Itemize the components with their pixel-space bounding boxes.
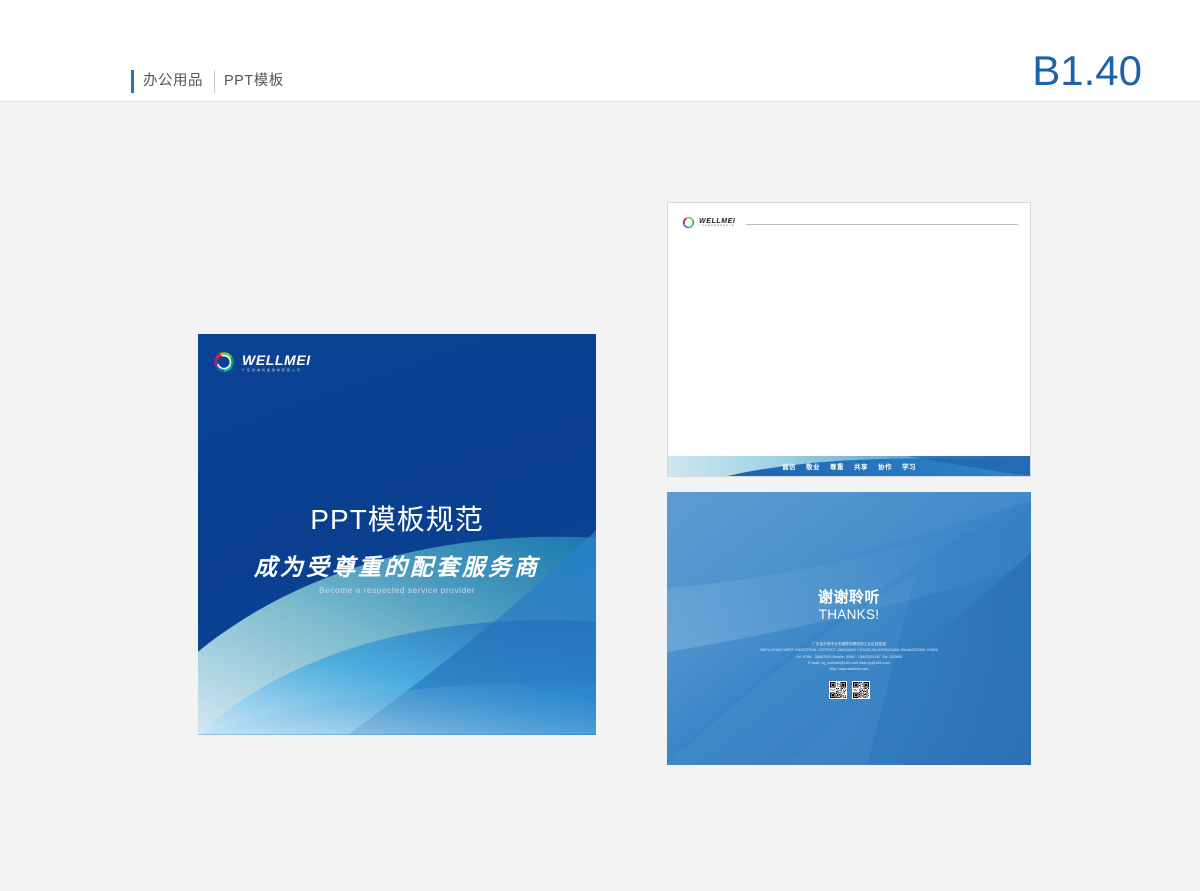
wellmei-swirl-icon	[681, 215, 696, 230]
cover-tagline-cn: 成为受尊重的配套服务商	[198, 556, 596, 579]
logo-wordmark: WELLMEI	[242, 353, 311, 367]
thanks-content: 谢谢聆听 THANKS! 广东省东莞市长安镇厦岗厦岗西工业区锦富路 JINFU …	[667, 590, 1031, 699]
qr-code-row	[667, 681, 1031, 699]
artboard-canvas: WELLMEI 广东省威利美建材有限公司 PPT模板规范 成为受尊重的配套服务商…	[0, 102, 1200, 891]
logo-subtext: 广东省威利美建材有限公司	[242, 369, 311, 372]
content-header-rule	[746, 224, 1018, 225]
logo-subtext: 广东省威利美建材有限公司	[699, 226, 735, 228]
company-address-block: 广东省东莞市长安镇厦岗厦岗西工业区锦富路 JINFU ROAD WEST IND…	[667, 641, 1031, 672]
qr-code-website[interactable]	[852, 681, 870, 699]
cover-wave-graphic	[198, 502, 596, 735]
page-number: B1.40	[1032, 50, 1142, 92]
slide-content-template[interactable]: WELLMEI 广东省威利美建材有限公司	[667, 202, 1031, 477]
breadcrumb-item[interactable]: PPT模板	[224, 74, 284, 89]
thanks-title-cn: 谢谢聆听	[667, 590, 1031, 606]
cover-title: PPT模板规范	[198, 506, 596, 534]
breadcrumb-divider	[214, 70, 215, 93]
content-logo-type: WELLMEI 广东省威利美建材有限公司	[699, 218, 735, 228]
qr-code-wechat[interactable]	[829, 681, 847, 699]
breadcrumb: 办公用品 PPT模板	[131, 68, 284, 94]
address-line: Http: www.wellmei.com	[667, 666, 1031, 672]
cover-logo: WELLMEI 广东省威利美建材有限公司	[211, 349, 311, 375]
core-value: 敬业	[806, 461, 820, 471]
slide-cover[interactable]: WELLMEI 广东省威利美建材有限公司 PPT模板规范 成为受尊重的配套服务商…	[198, 334, 596, 735]
core-value: 尊重	[830, 461, 844, 471]
core-value: 学习	[902, 461, 916, 471]
thanks-title-en: THANKS!	[667, 607, 1031, 623]
core-value: 诚信	[782, 461, 796, 471]
core-value: 共享	[854, 461, 868, 471]
content-footer-band: 诚信 敬业 尊重 共享 协作 学习	[668, 456, 1030, 476]
logo-wordmark: WELLMEI	[699, 218, 735, 225]
footer-core-values: 诚信 敬业 尊重 共享 协作 学习	[668, 456, 1030, 476]
core-value: 协作	[878, 461, 892, 471]
breadcrumb-accent-bar	[131, 70, 134, 93]
breadcrumb-category[interactable]: 办公用品	[143, 74, 203, 89]
cover-logo-type: WELLMEI 广东省威利美建材有限公司	[242, 353, 311, 372]
page-header: 办公用品 PPT模板 B1.40	[0, 0, 1200, 102]
slide-thanks[interactable]: 谢谢聆听 THANKS! 广东省东莞市长安镇厦岗厦岗西工业区锦富路 JINFU …	[667, 492, 1031, 765]
wellmei-swirl-icon	[211, 349, 237, 375]
content-logo: WELLMEI 广东省威利美建材有限公司	[681, 215, 735, 230]
cover-tagline-en: Become a respected service provider	[198, 586, 596, 595]
